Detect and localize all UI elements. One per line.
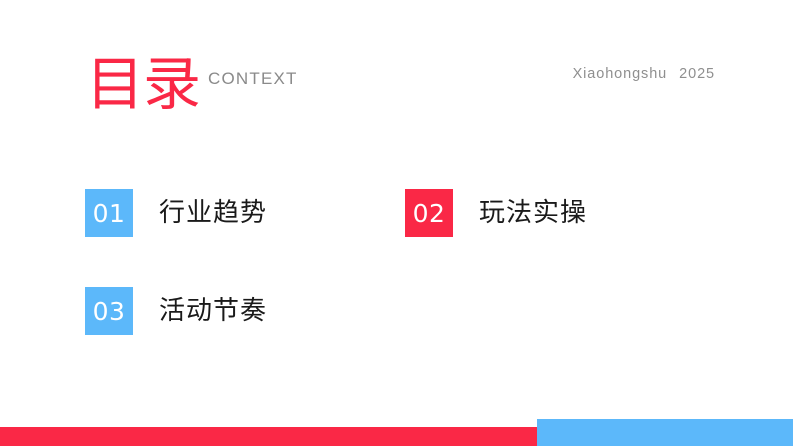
toc-number-badge-01: 01 (85, 189, 133, 237)
toc-label-02: 玩法实操 (479, 189, 587, 237)
page-title-en: CONTEXT (208, 69, 298, 89)
toc-row: 03 活动节奏 (85, 287, 725, 335)
toc-item-02[interactable]: 02 玩法实操 (405, 189, 725, 237)
toc-row: 01 行业趋势 02 玩法实操 (85, 189, 725, 237)
meta-brand: Xiaohongshu (573, 66, 668, 82)
footer-bar-blue (537, 419, 793, 446)
toc-item-01[interactable]: 01 行业趋势 (85, 189, 405, 237)
page-title: 目录 CONTEXT (86, 55, 298, 113)
page-title-cn: 目录 (86, 55, 200, 113)
table-of-contents: 01 行业趋势 02 玩法实操 03 活动节奏 (85, 189, 725, 335)
toc-label-03: 活动节奏 (159, 287, 267, 335)
toc-item-03[interactable]: 03 活动节奏 (85, 287, 405, 335)
toc-number-badge-02: 02 (405, 189, 453, 237)
slide-meta: Xiaohongshu2025 (573, 66, 715, 82)
slide-canvas: 目录 CONTEXT Xiaohongshu2025 01 行业趋势 02 玩法… (0, 0, 793, 446)
toc-label-01: 行业趋势 (159, 189, 267, 237)
meta-year: 2025 (679, 66, 715, 82)
toc-number-badge-03: 03 (85, 287, 133, 335)
